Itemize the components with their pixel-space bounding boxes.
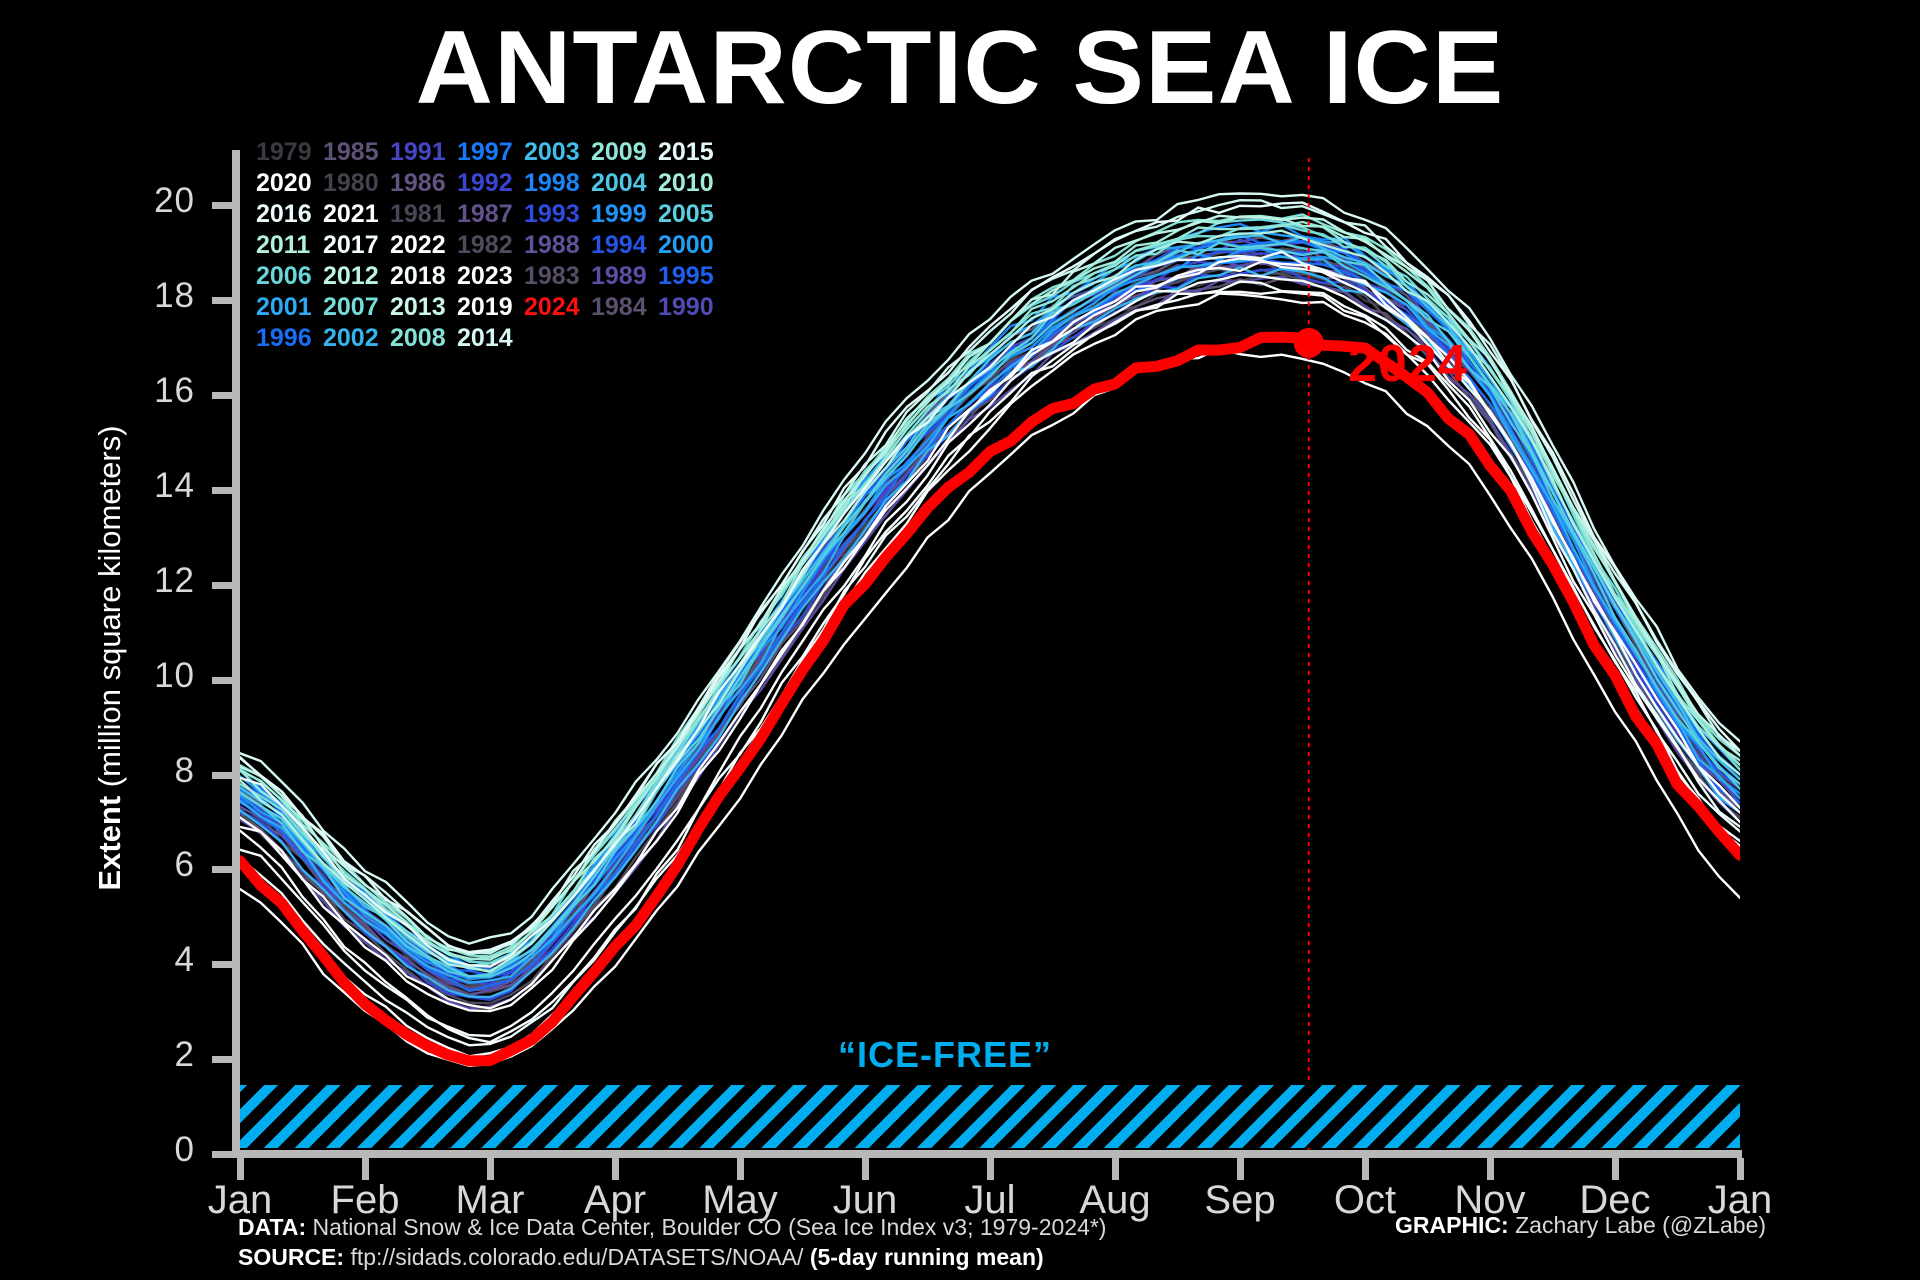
legend-year-1999[interactable]: 1999 xyxy=(591,200,648,229)
legend-year-2009[interactable]: 2009 xyxy=(591,138,648,167)
legend-year-2023[interactable]: 2023 xyxy=(457,262,514,291)
y-tick-label: 0 xyxy=(75,1130,195,1170)
legend-year-2005[interactable]: 2005 xyxy=(658,200,715,229)
current-value-marker xyxy=(1294,328,1324,358)
y-tick-label: 6 xyxy=(75,845,195,885)
legend-year-1984[interactable]: 1984 xyxy=(591,293,648,322)
y-tick-mark xyxy=(212,961,234,968)
footer-source-line: SOURCE: ftp://sidads.colorado.edu/DATASE… xyxy=(238,1242,1106,1272)
legend-year-1979[interactable]: 1979 xyxy=(256,138,313,167)
footer-source-tail: (5-day running mean) xyxy=(810,1244,1044,1270)
legend-year-1996[interactable]: 1996 xyxy=(256,324,313,353)
x-tick-mark xyxy=(987,1158,994,1180)
legend-year-1980[interactable]: 1980 xyxy=(323,169,380,198)
legend-year-1989[interactable]: 1989 xyxy=(591,262,648,291)
legend-year-2013[interactable]: 2013 xyxy=(390,293,447,322)
y-tick-mark xyxy=(212,392,234,399)
y-tick-label: 18 xyxy=(75,276,195,316)
y-tick-mark xyxy=(212,487,234,494)
legend-year-2006[interactable]: 2006 xyxy=(256,262,313,291)
page-title: ANTARCTIC SEA ICE xyxy=(0,14,1920,123)
legend-year-2002[interactable]: 2002 xyxy=(323,324,380,353)
legend-year-1985[interactable]: 1985 xyxy=(323,138,380,167)
legend-year-2024[interactable]: 2024 xyxy=(524,293,581,322)
legend-year-2008[interactable]: 2008 xyxy=(390,324,447,353)
legend-year-1987[interactable]: 1987 xyxy=(457,200,514,229)
x-tick-mark xyxy=(1737,1158,1744,1180)
footer-source-text: ftp://sidads.colorado.edu/DATASETS/NOAA/ xyxy=(344,1244,810,1270)
footer-graphic-text: Zachary Labe (@ZLabe) xyxy=(1509,1212,1766,1238)
legend-year-2021[interactable]: 2021 xyxy=(323,200,380,229)
legend-year-2010[interactable]: 2010 xyxy=(658,169,715,198)
y-tick-mark xyxy=(212,866,234,873)
legend-year-1983[interactable]: 1983 xyxy=(524,262,581,291)
footer-graphic-credit: GRAPHIC: Zachary Labe (@ZLabe) xyxy=(1395,1212,1766,1239)
y-tick-mark xyxy=(212,202,234,209)
annotation-2024: 2024 xyxy=(1348,334,1468,394)
x-tick-mark xyxy=(1237,1158,1244,1180)
legend-year-1992[interactable]: 1992 xyxy=(457,169,514,198)
ice-free-band xyxy=(240,1085,1740,1148)
y-tick-label: 10 xyxy=(75,656,195,696)
y-tick-label: 20 xyxy=(75,181,195,221)
legend-year-1982[interactable]: 1982 xyxy=(457,231,514,260)
legend-year-2012[interactable]: 2012 xyxy=(323,262,380,291)
footer-source-label: SOURCE: xyxy=(238,1244,344,1270)
legend-year-2004[interactable]: 2004 xyxy=(591,169,648,198)
legend-year-1981[interactable]: 1981 xyxy=(390,200,447,229)
legend-year-1993[interactable]: 1993 xyxy=(524,200,581,229)
legend-year-2014[interactable]: 2014 xyxy=(457,324,514,353)
x-tick-mark xyxy=(1112,1158,1119,1180)
legend-year-2003[interactable]: 2003 xyxy=(524,138,581,167)
x-tick-mark xyxy=(362,1158,369,1180)
legend-year-1991[interactable]: 1991 xyxy=(390,138,447,167)
y-tick-mark xyxy=(212,1151,234,1158)
legend-year-2020[interactable]: 2020 xyxy=(256,169,313,198)
footer-data-source: DATA: National Snow & Ice Data Center, B… xyxy=(238,1212,1106,1273)
footer-data-label: DATA: xyxy=(238,1214,306,1240)
legend-year-2019[interactable]: 2019 xyxy=(457,293,514,322)
footer-data-text: National Snow & Ice Data Center, Boulder… xyxy=(306,1214,1106,1240)
legend-year-1994[interactable]: 1994 xyxy=(591,231,648,260)
legend-year-2007[interactable]: 2007 xyxy=(323,293,380,322)
legend-year-1998[interactable]: 1998 xyxy=(524,169,581,198)
footer-graphic-label: GRAPHIC: xyxy=(1395,1212,1509,1238)
y-tick-label: 14 xyxy=(75,466,195,506)
y-tick-mark xyxy=(212,297,234,304)
x-tick-mark xyxy=(487,1158,494,1180)
legend-year-2015[interactable]: 2015 xyxy=(658,138,715,167)
x-tick-mark xyxy=(1612,1158,1619,1180)
y-tick-mark xyxy=(212,772,234,779)
legend-year-2017[interactable]: 2017 xyxy=(323,231,380,260)
footer-data-line: DATA: National Snow & Ice Data Center, B… xyxy=(238,1212,1106,1242)
legend-year-1997[interactable]: 1997 xyxy=(457,138,514,167)
legend-year-2022[interactable]: 2022 xyxy=(390,231,447,260)
legend-year-2016[interactable]: 2016 xyxy=(256,200,313,229)
x-tick-mark xyxy=(737,1158,744,1180)
x-tick-mark xyxy=(612,1158,619,1180)
x-tick-mark xyxy=(237,1158,244,1180)
legend-year-2011[interactable]: 2011 xyxy=(256,231,313,260)
legend-year-2000[interactable]: 2000 xyxy=(658,231,715,260)
ice-free-label: “ICE-FREE” xyxy=(0,1034,1905,1076)
legend-year-2001[interactable]: 2001 xyxy=(256,293,313,322)
y-tick-mark xyxy=(212,677,234,684)
legend-year-2018[interactable]: 2018 xyxy=(390,262,447,291)
y-tick-mark xyxy=(212,582,234,589)
x-tick-mark xyxy=(1362,1158,1369,1180)
y-tick-label: 8 xyxy=(75,751,195,791)
chart-canvas: ANTARCTIC SEA ICE Extent (million square… xyxy=(0,0,1920,1280)
legend-year-1990[interactable]: 1990 xyxy=(658,293,715,322)
y-tick-label: 4 xyxy=(75,940,195,980)
y-tick-label: 16 xyxy=(75,371,195,411)
y-tick-label: 12 xyxy=(75,561,195,601)
x-tick-mark xyxy=(862,1158,869,1180)
year-legend: 1979198519911997200320092015202019801986… xyxy=(256,138,715,353)
x-axis-line xyxy=(232,1150,1742,1158)
x-tick-mark xyxy=(1487,1158,1494,1180)
legend-year-1986[interactable]: 1986 xyxy=(390,169,447,198)
legend-year-1988[interactable]: 1988 xyxy=(524,231,581,260)
legend-year-1995[interactable]: 1995 xyxy=(658,262,715,291)
